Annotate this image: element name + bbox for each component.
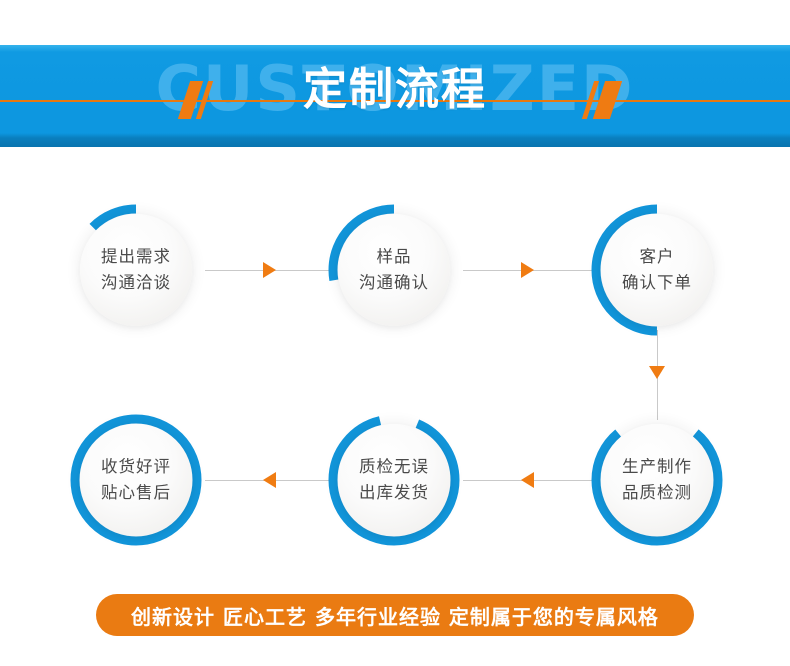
flow-node-step-5[interactable]: 质检无误 出库发货 <box>327 413 461 547</box>
node-body-step-1: 提出需求 沟通洽谈 <box>80 214 192 326</box>
node-body-step-4: 生产制作 品质检测 <box>601 424 713 536</box>
node-body-step-5: 质检无误 出库发货 <box>338 424 450 536</box>
node-label-line2: 出库发货 <box>359 480 429 506</box>
node-label-line1: 收货好评 <box>101 454 171 480</box>
node-label-line2: 沟通确认 <box>359 270 429 296</box>
node-body-step-6: 收货好评 贴心售后 <box>80 424 192 536</box>
arrow-right-icon <box>263 262 276 278</box>
node-label-line1: 生产制作 <box>622 454 692 480</box>
node-label-line2: 沟通洽谈 <box>101 270 171 296</box>
node-label-line2: 品质检测 <box>622 480 692 506</box>
arrow-left-icon <box>521 472 534 488</box>
arrow-down-icon <box>649 366 665 379</box>
flow-node-step-1[interactable]: 提出需求 沟通洽谈 <box>69 203 203 337</box>
node-label-line1: 质检无误 <box>359 454 429 480</box>
flow-node-step-4[interactable]: 生产制作 品质检测 <box>590 413 724 547</box>
flow-node-step-6[interactable]: 收货好评 贴心售后 <box>69 413 203 547</box>
node-label-line2: 确认下单 <box>622 270 692 296</box>
arrow-left-icon <box>263 472 276 488</box>
flow-node-step-2[interactable]: 样品 沟通确认 <box>327 203 461 337</box>
node-label-line1: 客户 <box>640 244 675 270</box>
footer-slogan-banner: 创新设计 匠心工艺 多年行业经验 定制属于您的专属风格 <box>96 594 694 636</box>
flow-node-step-3[interactable]: 客户 确认下单 <box>590 203 724 337</box>
node-body-step-2: 样品 沟通确认 <box>338 214 450 326</box>
node-label-line1: 提出需求 <box>101 244 171 270</box>
footer-slogan-text: 创新设计 匠心工艺 多年行业经验 定制属于您的专属风格 <box>131 601 659 630</box>
page-title: 定制流程 <box>0 55 790 125</box>
node-label-line1: 样品 <box>377 244 412 270</box>
arrow-right-icon <box>521 262 534 278</box>
header-banner: CUSTOMIZED 定制流程 <box>0 45 790 147</box>
process-flow-diagram: 提出需求 沟通洽谈 样品 沟通确认 客户 确认下单 生产制作 品质检测 <box>0 147 790 577</box>
node-body-step-3: 客户 确认下单 <box>601 214 713 326</box>
node-label-line2: 贴心售后 <box>101 480 171 506</box>
